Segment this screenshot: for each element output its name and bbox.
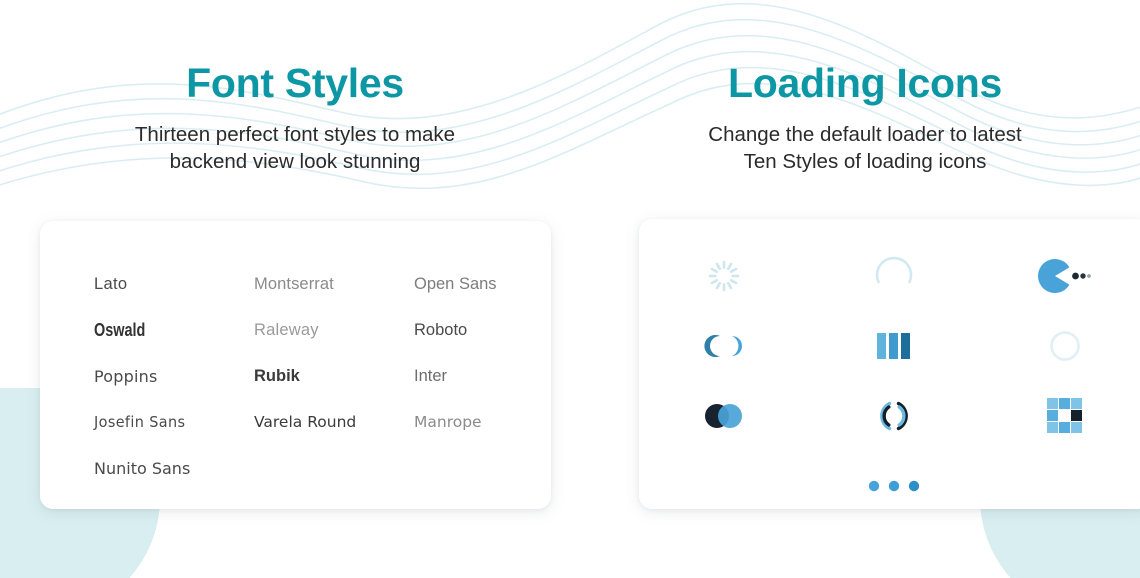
page-root: Font Styles Thirteen perfect font styles… xyxy=(0,0,1140,578)
font-item-nunito-sans[interactable]: Nunito Sans xyxy=(94,459,254,478)
font-item-open-sans[interactable]: Open Sans xyxy=(414,275,533,294)
ring-outline-icon[interactable] xyxy=(1037,318,1093,374)
font-list: Lato Montserrat Open Sans Oswald Raleway… xyxy=(94,261,533,491)
font-item-manrope[interactable]: Manrope xyxy=(414,413,533,431)
three-dots-icon[interactable] xyxy=(866,458,922,514)
font-item-oswald[interactable]: Oswald xyxy=(94,319,219,341)
font-styles-subtitle: Thirteen perfect font styles to make bac… xyxy=(0,121,590,175)
font-item-roboto[interactable]: Roboto xyxy=(414,321,533,340)
font-item-inter[interactable]: Inter xyxy=(414,367,533,386)
loader-list xyxy=(639,241,1140,521)
loading-icons-subtitle: Change the default loader to latest Ten … xyxy=(590,121,1140,175)
font-item-rubik[interactable]: Rubik xyxy=(254,367,414,386)
grid-squares-icon[interactable] xyxy=(1037,388,1093,444)
two-circles-icon[interactable] xyxy=(696,388,752,444)
font-item-montserrat[interactable]: Montserrat xyxy=(254,275,414,294)
spinner-arc-icon[interactable] xyxy=(866,248,922,304)
font-item-josefin-sans[interactable]: Josefin Sans xyxy=(94,413,243,431)
font-item-poppins[interactable]: Poppins xyxy=(94,367,254,386)
three-bars-icon[interactable] xyxy=(866,318,922,374)
font-styles-card: Lato Montserrat Open Sans Oswald Raleway… xyxy=(40,221,551,509)
font-styles-title: Font Styles xyxy=(0,0,590,107)
loading-icons-title: Loading Icons xyxy=(590,0,1140,107)
dual-crescent-icon[interactable] xyxy=(696,318,752,374)
loading-icons-card xyxy=(639,219,1140,509)
font-item-varela-round[interactable]: Varela Round xyxy=(254,413,414,431)
spinner-spokes-icon[interactable] xyxy=(696,248,752,304)
pacman-loader-icon[interactable] xyxy=(1037,248,1093,304)
font-styles-panel: Font Styles Thirteen perfect font styles… xyxy=(0,0,590,578)
bracket-spinner-icon[interactable] xyxy=(866,388,922,444)
font-item-raleway[interactable]: Raleway xyxy=(254,321,414,340)
font-item-lato[interactable]: Lato xyxy=(94,275,254,294)
loading-icons-panel: Loading Icons Change the default loader … xyxy=(590,0,1140,578)
